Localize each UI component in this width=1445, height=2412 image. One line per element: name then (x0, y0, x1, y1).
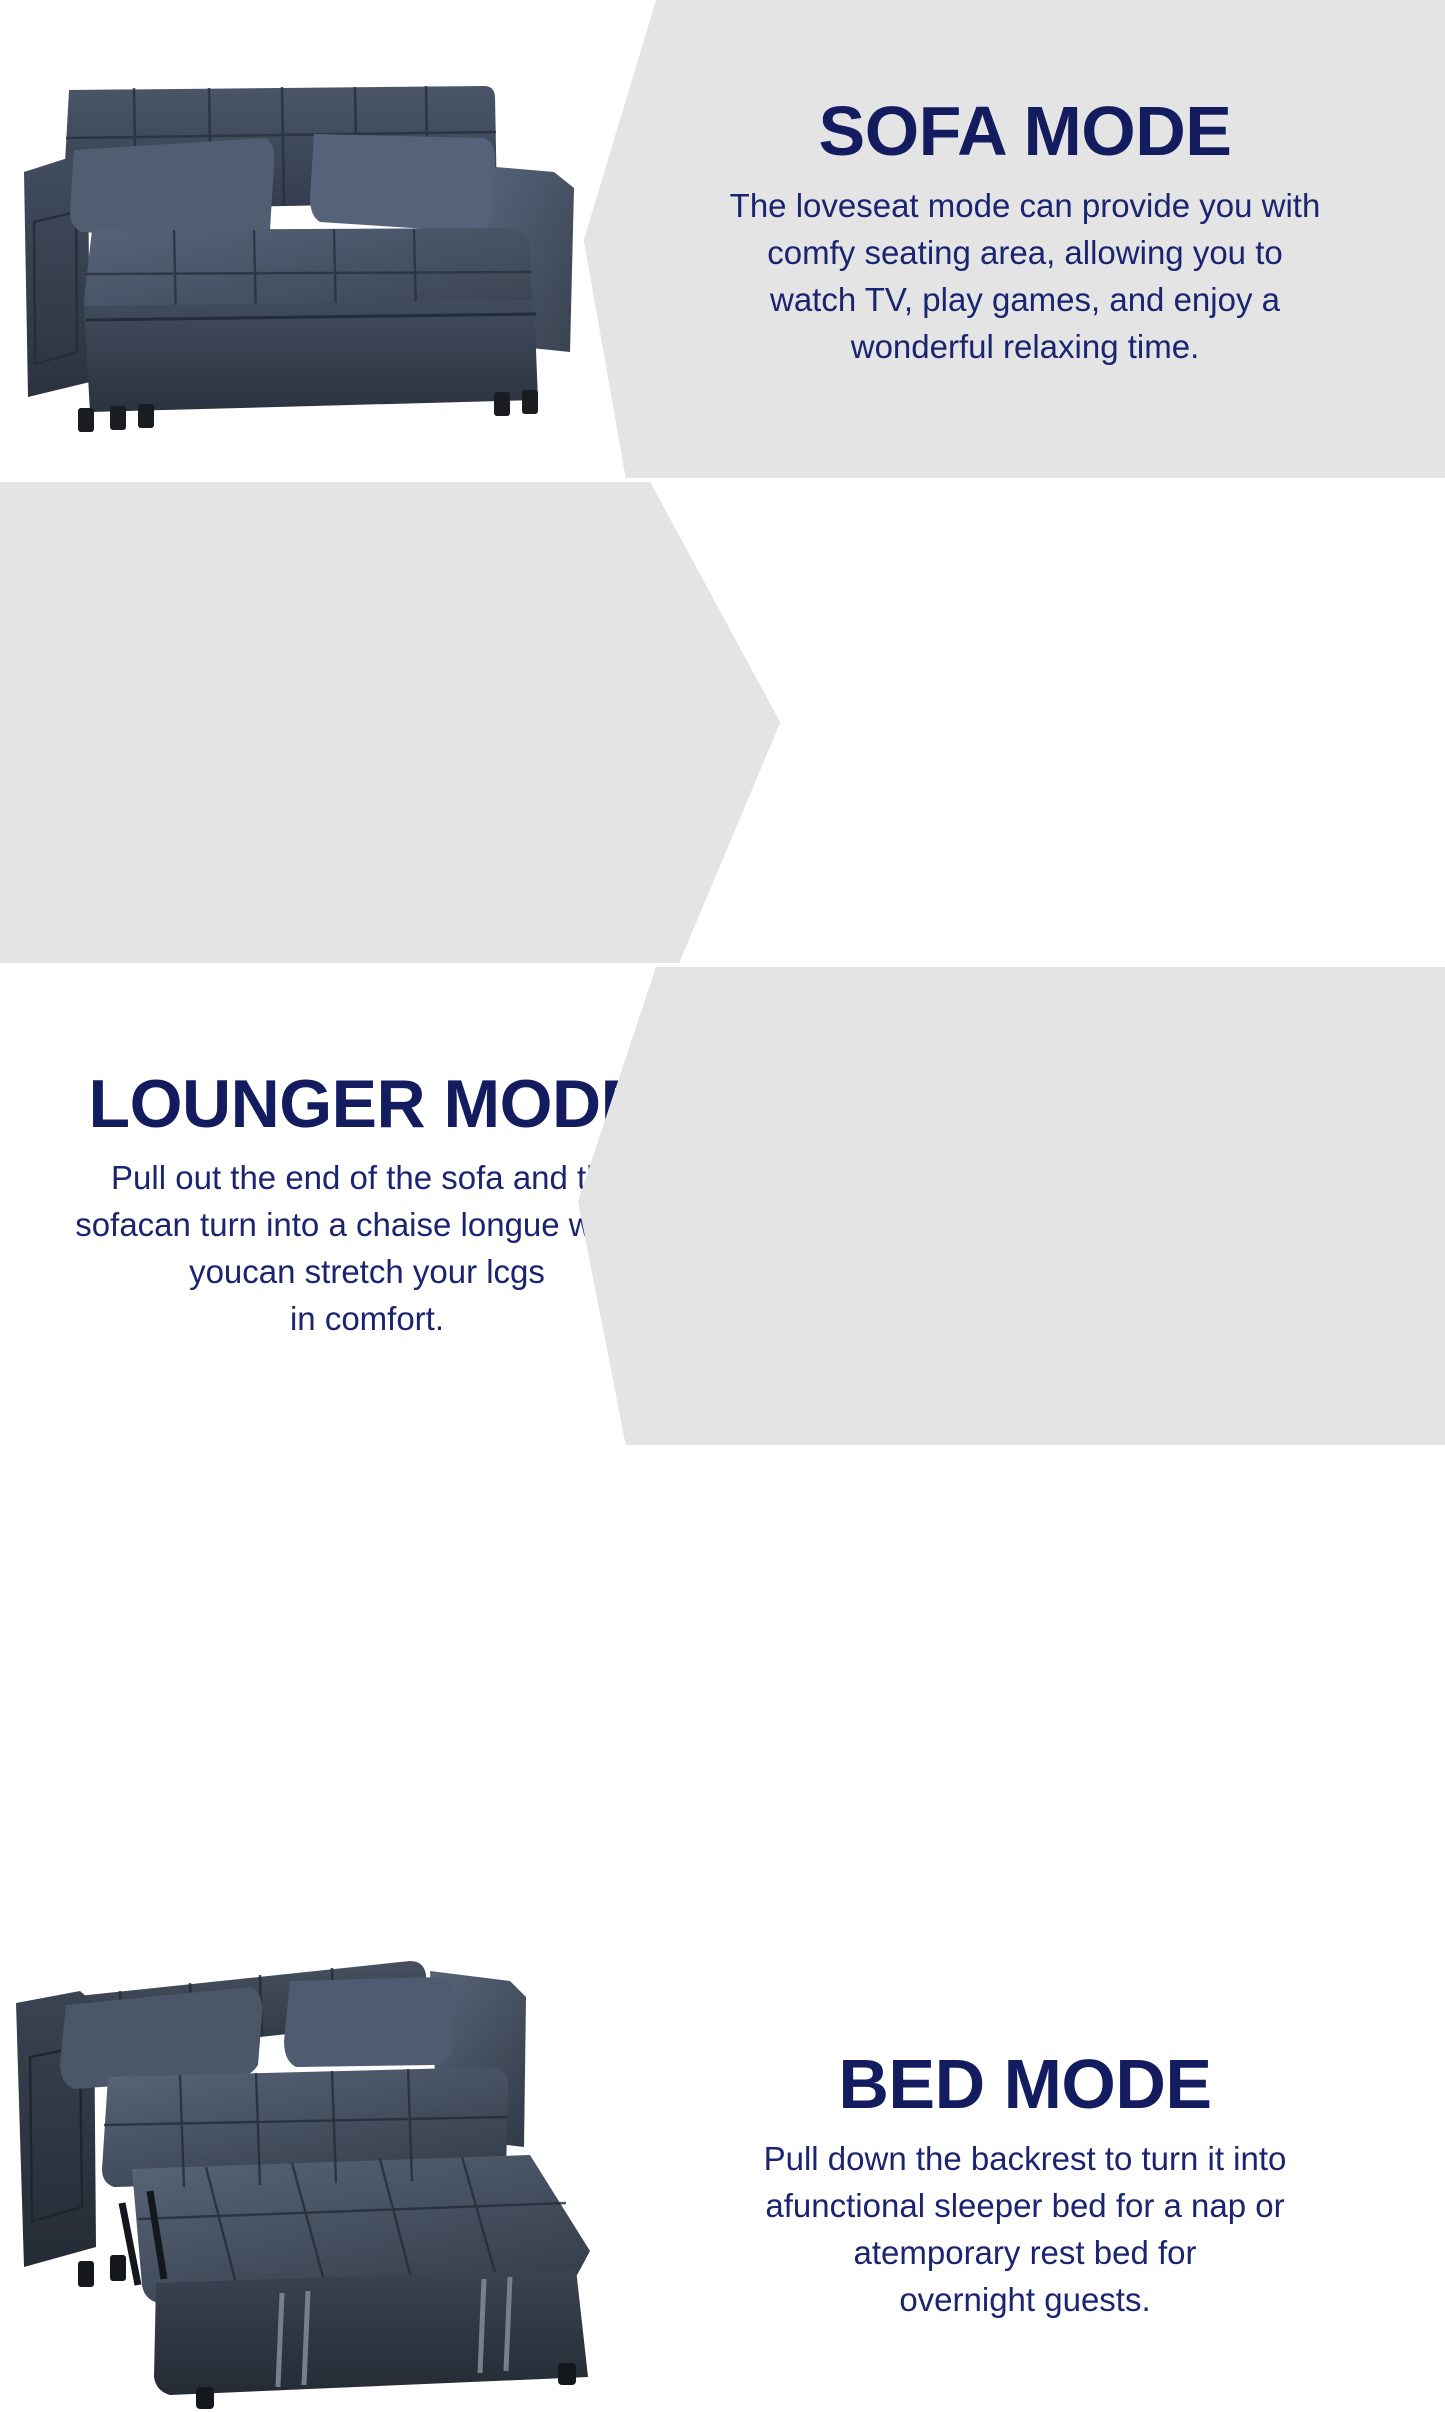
sofa-bed-illustration (10, 1947, 630, 2412)
bed-desc-line-3: atemporary rest bed for (630, 2230, 1420, 2277)
sofa-desc-line-3: watch TV, play games, and enjoy a (640, 277, 1410, 324)
sofa-desc-line-1: The loveseat mode can provide you with (640, 183, 1410, 230)
bed-mode-panel-background (0, 967, 1445, 1445)
sofa-desc-line-4: wonderful relaxing time. (640, 324, 1410, 371)
sofa-mode-title: SOFA MODE (640, 96, 1410, 167)
bed-mode-title: BED MODE (630, 2049, 1420, 2120)
sofa-desc-line-2: comfy seating area, allowing you to (640, 230, 1410, 277)
sofa-mode-product-image (14, 52, 614, 442)
section-bed-mode: BED MODE Pull down the backrest to turn … (0, 967, 1445, 1445)
lounger-mode-panel-background (0, 482, 1445, 963)
bed-mode-product-image (10, 1947, 630, 2412)
bed-mode-description: Pull down the backrest to turn it into a… (630, 2136, 1420, 2323)
sofa-closed-illustration (14, 52, 614, 442)
bed-mode-text-block: BED MODE Pull down the backrest to turn … (630, 2049, 1420, 2324)
bed-desc-line-2: afunctional sleeper bed for a nap or (630, 2183, 1420, 2230)
bed-desc-line-4: overnight guests. (630, 2277, 1420, 2324)
bed-desc-line-1: Pull down the backrest to turn it into (630, 2136, 1420, 2183)
product-feature-infographic: SOFA MODE The loveseat mode can provide … (0, 0, 1445, 1445)
sofa-mode-text-block: SOFA MODE The loveseat mode can provide … (640, 96, 1410, 371)
section-sofa-mode: SOFA MODE The loveseat mode can provide … (0, 0, 1445, 478)
sofa-mode-description: The loveseat mode can provide you with c… (640, 183, 1410, 370)
section-lounger-mode: LOUNGER MODE Pull out the end of the sof… (0, 482, 1445, 963)
